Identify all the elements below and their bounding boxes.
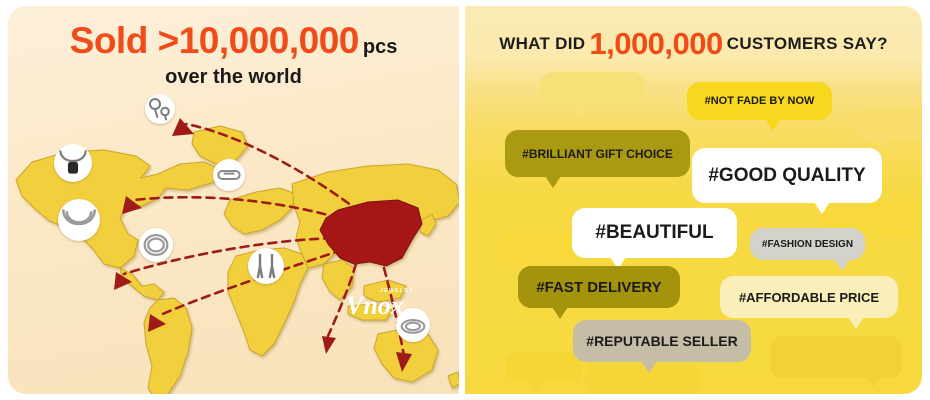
bubble-tail	[848, 317, 864, 329]
bubble-tail	[814, 202, 830, 214]
hashtag-bubble[interactable]: #FASHION DESIGN	[750, 228, 865, 260]
cufflinks-icon	[248, 248, 284, 284]
vnox-logo-text: Vnox	[346, 291, 404, 320]
bubble-tail	[545, 176, 561, 188]
map-greenland	[192, 126, 248, 164]
reviews-head-right: CUSTOMERS SAY?	[727, 34, 888, 53]
hashtag-bubble-label: #REPUTABLE SELLER	[586, 333, 737, 349]
ring-icon	[396, 308, 430, 342]
map-europe	[224, 188, 296, 234]
bubble-tail	[574, 106, 588, 116]
hashtag-bubble-label: #AFFORDABLE PRICE	[739, 290, 879, 305]
decorative-bubble	[770, 336, 902, 378]
decorative-bubble	[500, 232, 578, 264]
decorative-bubble	[505, 352, 583, 382]
reviews-headline: WHAT DID1,000,000CUSTOMERS SAY?	[465, 26, 922, 62]
arrowhead-s	[322, 336, 336, 354]
watch-icon	[213, 159, 245, 191]
bubble-tail	[552, 307, 568, 319]
hashtag-bubble-label: #NOT FADE BY NOW	[705, 95, 815, 107]
arrowhead-ne	[172, 118, 194, 136]
hashtag-bubble[interactable]: #AFFORDABLE PRICE	[720, 276, 898, 318]
decorative-bubble	[855, 108, 922, 140]
sold-prefix: Sold >	[70, 20, 179, 61]
sold-number: 10,000,000	[179, 20, 359, 61]
hashtag-bubble-label: #FASHION DESIGN	[762, 239, 853, 250]
decorative-bubble	[540, 72, 645, 107]
hashtag-bubble-label: #GOOD QUALITY	[708, 165, 865, 187]
hashtag-bubble[interactable]: #REPUTABLE SELLER	[573, 320, 751, 362]
hashtag-bubble-label: #BRILLIANT GIFT CHOICE	[522, 147, 673, 161]
world-map: JEWELRY Vnox	[8, 88, 459, 394]
necklace-icon	[54, 144, 92, 182]
bubble-tail	[834, 259, 850, 271]
bracelet-icon	[139, 228, 173, 262]
bubble-tail	[866, 377, 880, 387]
world-map-panel: Sold >10,000,000pcs over the world	[8, 6, 459, 394]
map-new-zealand	[448, 372, 459, 388]
bubble-tail	[765, 119, 781, 131]
hashtag-bubble[interactable]: #BRILLIANT GIFT CHOICE	[505, 130, 690, 177]
reviews-head-number: 1,000,000	[589, 26, 722, 61]
sold-subline: over the world	[8, 66, 459, 89]
hashtag-bubble[interactable]: #FAST DELIVERY	[518, 266, 680, 308]
promo-banner: Sold >10,000,000pcs over the world	[0, 0, 930, 400]
hashtag-bubble[interactable]: #BEAUTIFUL	[572, 208, 737, 258]
bubble-tail	[529, 381, 543, 391]
bubble-tail	[875, 139, 889, 149]
hashtag-bubble[interactable]: #GOOD QUALITY	[692, 148, 882, 203]
hashtag-bubble[interactable]: #NOT FADE BY NOW	[687, 82, 832, 120]
right-panel: WHAT DID1,000,000CUSTOMERS SAY? #NOT FAD…	[465, 0, 930, 400]
sold-unit: pcs	[363, 36, 397, 58]
sold-headline: Sold >10,000,000pcs	[8, 20, 459, 62]
hashtag-bubble-label: #BEAUTIFUL	[595, 222, 713, 244]
earrings-icon	[145, 94, 175, 124]
pendant-icon	[58, 199, 100, 241]
hashtag-bubble-label: #FAST DELIVERY	[536, 279, 661, 296]
reviews-head-left: WHAT DID	[499, 34, 585, 53]
left-panel: Sold >10,000,000pcs over the world	[0, 0, 465, 400]
customer-reviews-panel: WHAT DID1,000,000CUSTOMERS SAY? #NOT FAD…	[465, 6, 922, 394]
bubble-tail	[641, 361, 657, 373]
map-north-america	[16, 150, 222, 268]
